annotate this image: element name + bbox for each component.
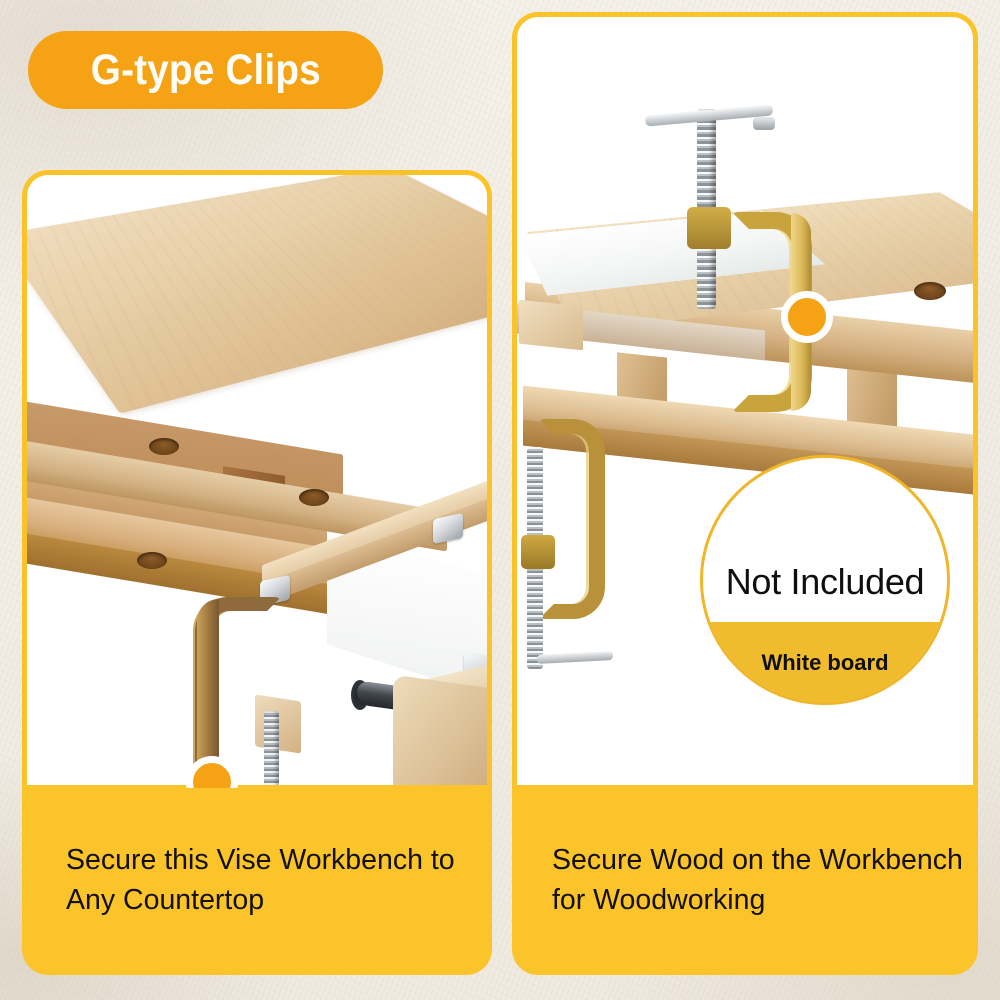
caption-block-left: Secure this Vise Workbench to Any Counte… bbox=[22, 785, 492, 975]
g-clamp-t-handle-cap bbox=[753, 117, 775, 130]
workbench-top-surface bbox=[22, 170, 492, 414]
callout-dot-right bbox=[781, 291, 833, 343]
hex-bolt-1 bbox=[433, 513, 463, 544]
photo-frame-left bbox=[22, 170, 492, 788]
caption-left-text: Secure this Vise Workbench to Any Counte… bbox=[22, 840, 492, 921]
not-included-badge-subtitle: White board bbox=[703, 650, 947, 676]
panel-left: Secure this Vise Workbench to Any Counte… bbox=[22, 170, 492, 975]
not-included-badge: Not Included White board bbox=[700, 455, 950, 705]
dog-hole-right-1 bbox=[914, 282, 946, 300]
g-clamp-screw-left bbox=[264, 711, 279, 788]
dog-hole-3 bbox=[137, 552, 167, 569]
caption-right-text: Secure Wood on the Workbench for Woodwor… bbox=[512, 840, 978, 921]
vise-jaw-block bbox=[393, 675, 492, 788]
g-clamp-collar-bottom bbox=[521, 535, 555, 569]
title-badge-label: G-type Clips bbox=[90, 49, 320, 92]
bench-stop-block bbox=[519, 300, 583, 351]
caption-block-right: Secure Wood on the Workbench for Woodwor… bbox=[512, 785, 978, 975]
g-clamp-body-bottom bbox=[539, 419, 605, 619]
dog-hole-1 bbox=[149, 438, 179, 455]
dog-hole-2 bbox=[299, 489, 329, 506]
not-included-badge-title: Not Included bbox=[703, 561, 947, 603]
product-photo-left bbox=[27, 175, 487, 788]
g-clamp-collar-top bbox=[687, 207, 731, 249]
title-badge: G-type Clips bbox=[28, 31, 383, 109]
g-clamp-t-handle-bottom bbox=[537, 651, 613, 664]
